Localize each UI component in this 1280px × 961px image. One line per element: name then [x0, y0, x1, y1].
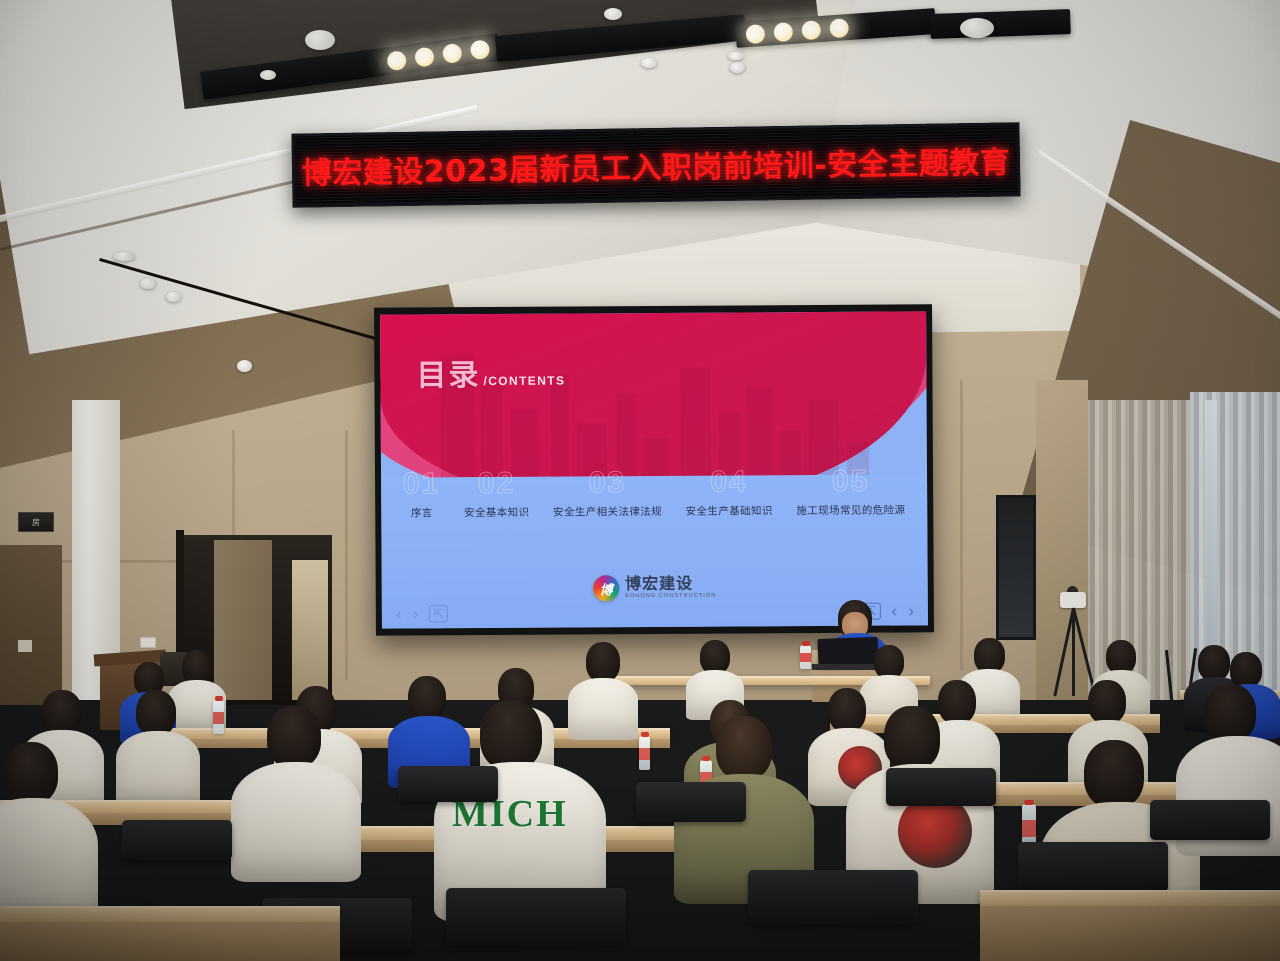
wall-recess-left: [0, 545, 62, 705]
desk-front-panel: [0, 922, 340, 961]
spotlight-icon: [166, 292, 181, 302]
contents-label: 施工现场常见的危险源: [796, 502, 905, 518]
ceiling-speaker-icon: [960, 18, 994, 38]
attendee-head: [586, 642, 620, 682]
room-sign-label: 房: [32, 517, 40, 528]
spotlight-icon: [140, 278, 156, 289]
attendee-torso: [568, 678, 638, 740]
contents-number: 04: [685, 467, 772, 498]
attendee-head: [938, 680, 976, 724]
bottle-cap: [641, 732, 649, 737]
side-window: [996, 495, 1036, 640]
contents-label: 序言: [403, 505, 440, 520]
contents-item: 03 安全生产相关法律法规: [553, 468, 662, 520]
attendee-head: [1198, 645, 1230, 681]
contents-number: 01: [403, 469, 441, 499]
room-sign-plate: 房: [18, 512, 54, 532]
chair: [636, 782, 746, 822]
logo-name-en: BOHONG CONSTRUCTION: [625, 594, 716, 600]
led-banner: 博宏建设2023届新员工入职岗前培训-安全主题教育: [291, 122, 1020, 207]
contents-number: 02: [464, 469, 530, 499]
attendee-head: [1084, 740, 1144, 808]
water-bottle: [800, 645, 811, 669]
chair: [886, 768, 996, 806]
attendee-head: [1106, 640, 1136, 674]
led-banner-text: 博宏建设2023届新员工入职岗前培训-安全主题教育: [301, 137, 1010, 192]
ceiling-bulb: [469, 39, 490, 60]
chair: [446, 888, 626, 946]
ceiling-bulb: [414, 46, 435, 67]
next-slide-icon[interactable]: ›: [412, 605, 418, 622]
attendee-head: [1204, 684, 1256, 742]
attendee-head: [974, 638, 1005, 673]
wall-outlet-icon: [18, 640, 32, 652]
door-leaf: [214, 540, 272, 700]
attendee-head: [884, 706, 940, 770]
attendee-head: [480, 700, 542, 770]
ceiling-bulb: [829, 18, 849, 38]
slide-title-cn: 目录: [416, 350, 480, 394]
bottle-label: [1022, 820, 1036, 837]
attendee-head: [1088, 680, 1126, 724]
ceiling-light-strip-far-right: [930, 9, 1071, 39]
spotlight-icon: [113, 252, 135, 261]
spotlight-icon: [237, 360, 252, 372]
water-bottle: [639, 736, 650, 770]
logo-wordmark: 博宏建设 BOHONG CONSTRUCTION: [625, 576, 716, 600]
attendee-head: [182, 650, 212, 684]
desk-front-panel: [980, 906, 1280, 961]
bottle-cap: [702, 756, 710, 761]
smoke-detector-icon: [728, 52, 744, 60]
bottle-label: [213, 712, 224, 725]
next-slide-icon[interactable]: ›: [908, 602, 914, 619]
projection-screen: 目录 /CONTENTS 01 序言 02 安全基本知识 03 安全生产相关法律…: [374, 304, 934, 635]
presenter-laptop: [818, 637, 879, 667]
ceiling-bulb: [358, 53, 379, 74]
prev-slide-icon[interactable]: ‹: [396, 606, 402, 623]
ceiling-bulb: [801, 20, 821, 40]
slide-title: 目录 /CONTENTS: [416, 350, 565, 395]
contents-number: 03: [553, 468, 662, 499]
prev-slide-icon[interactable]: ‹: [891, 603, 897, 620]
chair: [122, 820, 232, 860]
chair: [748, 870, 918, 924]
attendee-torso: [231, 762, 361, 882]
contents-label: 安全生产相关法律法规: [553, 504, 662, 520]
attendee-torso: [116, 731, 200, 807]
attendee-head: [716, 716, 772, 780]
chair: [1150, 800, 1270, 840]
desk-row-front: [0, 906, 340, 922]
meeting-room-photo: 博宏建设2023届新员工入职岗前培训-安全主题教育 房: [0, 0, 1280, 961]
doorway-far-light: [292, 560, 328, 700]
contents-number: 05: [796, 466, 905, 497]
ceiling-bulb: [386, 50, 407, 71]
slide-nav-left[interactable]: ‹ › ⇱: [396, 605, 448, 622]
chair: [398, 766, 498, 802]
bottle-cap: [802, 641, 810, 646]
bottle-cap: [1024, 800, 1034, 805]
wall-seam: [960, 380, 963, 670]
logo-mark-icon: 博: [593, 575, 619, 601]
contents-item: 05 施工现场常见的危险源: [796, 466, 905, 518]
attendee-head: [4, 742, 58, 804]
contents-item: 04 安全生产基础知识: [685, 467, 773, 519]
attendee-head: [1230, 652, 1262, 688]
chair: [1018, 842, 1168, 892]
smoke-detector-icon: [641, 58, 657, 68]
ceiling-bulb: [745, 23, 765, 43]
water-bottle: [213, 700, 224, 734]
attendee-head: [700, 640, 730, 674]
bottle-cap: [215, 696, 223, 701]
contents-item: 02 安全基本知识: [464, 469, 530, 520]
smoke-detector-icon: [730, 62, 745, 73]
tripod-leg: [1072, 608, 1075, 696]
ceiling-bulb: [442, 42, 463, 63]
slide-contents-list: 01 序言 02 安全基本知识 03 安全生产相关法律法规 04 安全生产基础知…: [381, 466, 927, 520]
company-logo: 博 博宏建设 BOHONG CONSTRUCTION: [593, 575, 716, 602]
wall-seam: [345, 430, 348, 680]
ceiling-bulb: [773, 22, 793, 42]
contents-item: 01 序言: [403, 469, 441, 520]
logo-mark-letter: 博: [600, 579, 613, 598]
attendee-head: [408, 676, 446, 720]
smoke-detector-icon: [260, 70, 276, 80]
logo-name-cn: 博宏建设: [625, 576, 716, 593]
attendee-head: [136, 690, 176, 736]
window-curtain: [1086, 400, 1190, 700]
attendee-head: [42, 690, 82, 735]
contents-label: 安全基本知识: [464, 505, 529, 520]
wall-outlet-icon: [140, 637, 156, 648]
bottle-label: [639, 748, 650, 761]
smoke-detector-icon: [604, 8, 622, 20]
attendee-head: [874, 645, 904, 679]
attendee-head: [828, 688, 866, 732]
slide-title-en: /CONTENTS: [483, 374, 565, 389]
desk-row-front: [980, 890, 1280, 906]
camera-body: [1060, 592, 1086, 608]
ceiling-speaker-icon: [305, 30, 335, 50]
presentation-slide: 目录 /CONTENTS 01 序言 02 安全基本知识 03 安全生产相关法律…: [380, 311, 928, 628]
contents-label: 安全生产基础知识: [686, 503, 773, 519]
attendee-head: [267, 706, 321, 768]
share-icon[interactable]: ⇱: [429, 605, 448, 622]
bottle-label: [800, 653, 811, 662]
